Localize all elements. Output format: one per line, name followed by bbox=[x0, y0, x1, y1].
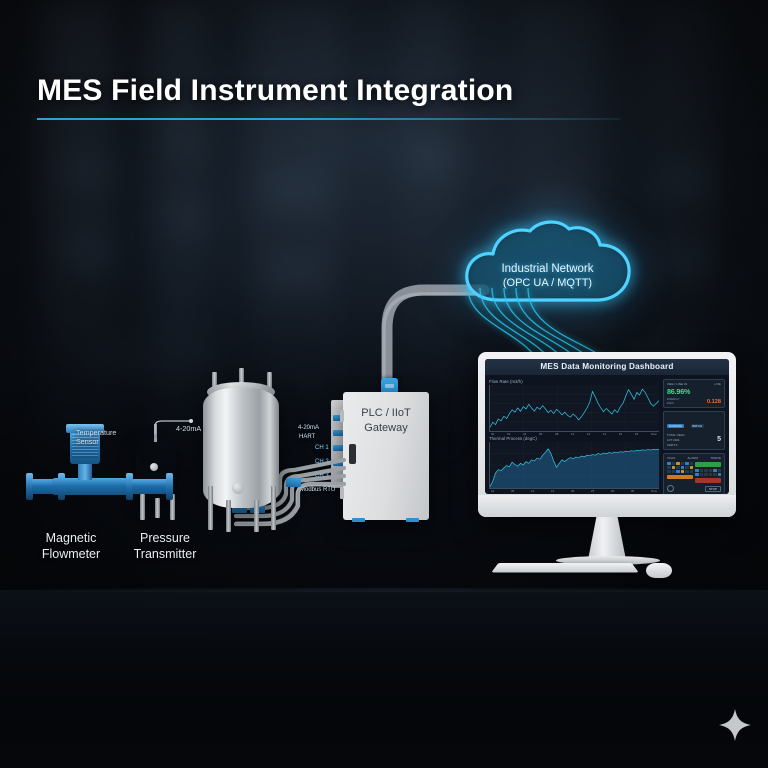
transmitter-nameplate bbox=[150, 463, 158, 471]
tank-leg bbox=[254, 500, 259, 532]
dashboard-title: MES Data Monitoring Dashboard bbox=[485, 359, 729, 375]
flowmeter-neck bbox=[78, 462, 92, 480]
xtick: 01 bbox=[491, 489, 494, 493]
gateway-label-line2: Gateway bbox=[343, 421, 429, 436]
status-count: 5 bbox=[717, 436, 721, 443]
chart-thermal-xticks: 01 05 10 15 20 25 30 35 Now bbox=[489, 489, 659, 493]
floor-horizon-line bbox=[0, 588, 768, 592]
page-title: MES Field Instrument Integration bbox=[37, 74, 513, 108]
label-transmitter-line2: Transmitter bbox=[110, 546, 220, 562]
gateway-foot bbox=[406, 518, 419, 522]
annotation-temp-line2: Sensor bbox=[76, 437, 146, 446]
title-underline bbox=[37, 118, 620, 120]
gateway-label: PLC / IIoT Gateway bbox=[343, 406, 429, 436]
annotation-temp-line1: Temperature bbox=[76, 428, 146, 437]
status-card[interactable]: RUNNING BATCH TOTAL YIELD LOT 2204 SHIFT… bbox=[663, 411, 725, 450]
chart-thermal: Thermal Process (degC) bbox=[489, 436, 659, 490]
tank-nameplate bbox=[232, 482, 244, 494]
status-chip-running: RUNNING bbox=[667, 424, 684, 428]
poster-canvas: MES Field Instrument Integration Industr… bbox=[0, 0, 768, 768]
xtick: 15 bbox=[551, 489, 554, 493]
gateway-label-line1: PLC / IIoT bbox=[343, 406, 429, 421]
chart-flow-rate-svg bbox=[490, 385, 659, 431]
magnetic-flowmeter-body bbox=[52, 478, 128, 495]
tags-card[interactable]: TAGS ALARM TREND bbox=[663, 453, 725, 494]
cloud-label-line1: Industrial Network bbox=[455, 262, 640, 276]
sparkle-icon bbox=[718, 708, 752, 742]
kpi-card-title: OEE / LINE 01 bbox=[667, 382, 687, 386]
xtick: 20 bbox=[571, 489, 574, 493]
status-row2: LOT 2204 bbox=[667, 438, 679, 442]
status-row1: TOTAL YIELD bbox=[667, 433, 684, 437]
chart-thermal-svg bbox=[490, 442, 659, 488]
tank-leg bbox=[271, 486, 276, 530]
transmitter-leg bbox=[140, 494, 145, 520]
status-chip-batch: BATCH bbox=[691, 424, 704, 428]
chart-thermal-plot bbox=[489, 442, 659, 489]
gateway-foot bbox=[352, 518, 365, 522]
xtick: 25 bbox=[591, 489, 594, 493]
monitor: MES Data Monitoring Dashboard Flow Rate … bbox=[478, 352, 736, 517]
monitor-bezel-bottom bbox=[478, 495, 736, 517]
tag-matrix-right bbox=[695, 469, 721, 476]
kpi-card[interactable]: OEE / LINE 01 LIVE 86.96% ENERGY kW/h 0.… bbox=[663, 379, 725, 408]
chart-flow-rate-plot bbox=[489, 385, 659, 432]
kpi-card-live: LIVE bbox=[714, 382, 721, 386]
reflective-floor bbox=[0, 590, 768, 768]
annotation-temperature-sensor: Temperature Sensor bbox=[76, 428, 146, 446]
mouse[interactable] bbox=[646, 563, 672, 578]
status-row3: SHIFT A bbox=[667, 443, 678, 447]
cable-clip bbox=[286, 478, 301, 487]
tank-leg bbox=[208, 486, 213, 530]
charts-column: Flow Rate (m3/h) bbox=[489, 379, 659, 490]
series-flow-rate bbox=[490, 389, 659, 427]
xtick: 35 bbox=[631, 489, 634, 493]
kpi-sub2: kW/h bbox=[667, 401, 680, 405]
monitor-screen: MES Data Monitoring Dashboard Flow Rate … bbox=[485, 359, 729, 494]
series-thermal-fill bbox=[490, 449, 659, 488]
gateway-door-handle[interactable] bbox=[349, 444, 356, 464]
keyboard[interactable] bbox=[491, 563, 638, 572]
stop-button[interactable]: STOP bbox=[705, 486, 721, 492]
chart-flow-rate-title: Flow Rate (m3/h) bbox=[489, 379, 659, 384]
xtick: Now bbox=[651, 489, 657, 493]
chart-flow-rate: Flow Rate (m3/h) bbox=[489, 379, 659, 433]
xtick: 30 bbox=[611, 489, 614, 493]
kpi-alt-value: 0.128 bbox=[707, 399, 721, 405]
tank-leg bbox=[226, 500, 231, 532]
transmitter-leg bbox=[155, 498, 160, 518]
annotation-4-20ma: 4-20mA bbox=[176, 424, 201, 433]
xtick: 10 bbox=[531, 489, 534, 493]
tag-matrix-left bbox=[667, 462, 693, 473]
label-transmitter-line1: Pressure bbox=[110, 530, 220, 546]
chart-thermal-title: Thermal Process (degC) bbox=[489, 436, 659, 441]
dashboard-side-panel: OEE / LINE 01 LIVE 86.96% ENERGY kW/h 0.… bbox=[663, 379, 725, 490]
label-pressure-transmitter: Pressure Transmitter bbox=[110, 530, 220, 562]
plc-iiot-gateway: PLC / IIoT Gateway bbox=[343, 392, 429, 520]
power-icon[interactable] bbox=[667, 485, 674, 492]
xtick: 05 bbox=[511, 489, 514, 493]
kpi-value: 86.96% bbox=[667, 387, 721, 396]
